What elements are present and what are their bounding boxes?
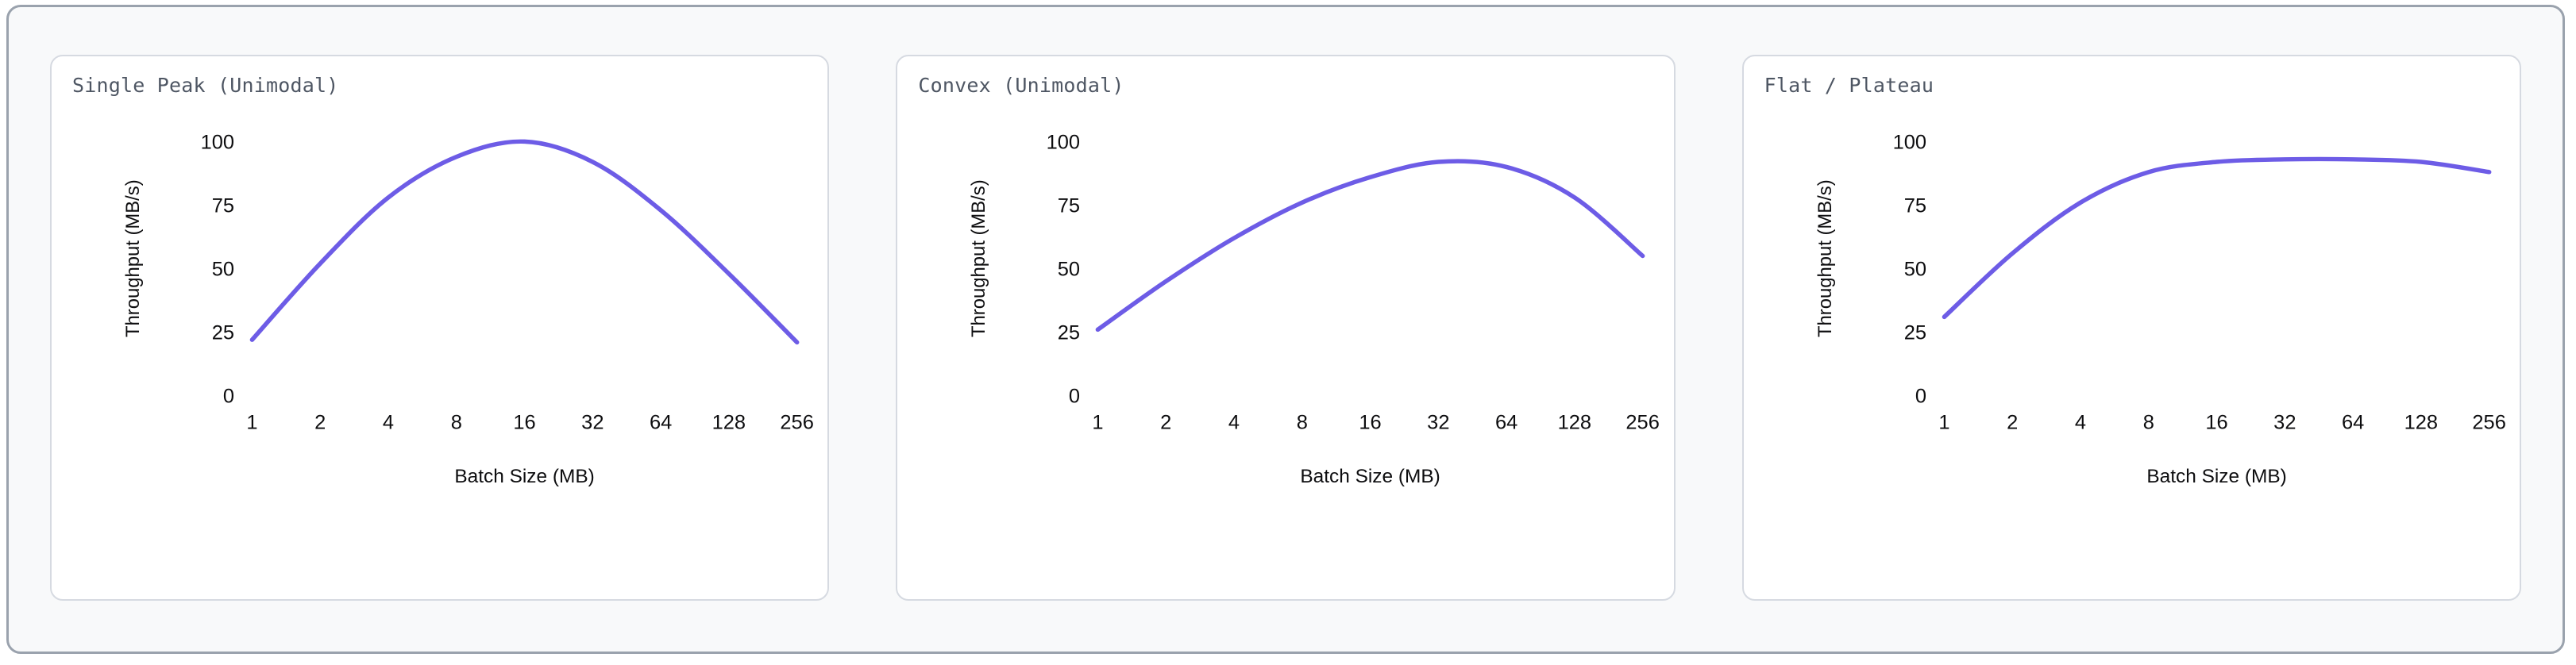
y-tick-label: 25 <box>1058 322 1080 344</box>
x-tick-label: 1 <box>1093 412 1104 434</box>
x-tick-label: 64 <box>2342 412 2364 434</box>
x-tick-label: 4 <box>2075 412 2086 434</box>
chart-panel-row: Single Peak (Unimodal) 0255075100Through… <box>9 7 2563 652</box>
line-chart-svg: 0255075100Throughput (MB/s)1248163264128… <box>52 94 827 599</box>
x-tick-label: 8 <box>2142 412 2154 434</box>
chart-title: Flat / Plateau <box>1764 74 1934 97</box>
x-tick-label: 2 <box>2007 412 2018 434</box>
y-tick-label: 50 <box>212 259 234 281</box>
x-tick-label: 256 <box>2472 412 2505 434</box>
x-axis-title: Batch Size (MB) <box>2146 466 2286 487</box>
line-chart-svg: 0255075100Throughput (MB/s)1248163264128… <box>897 94 1673 599</box>
plot-area: 0255075100Throughput (MB/s)1248163264128… <box>897 94 1673 599</box>
x-tick-label: 1 <box>246 412 257 434</box>
y-tick-label: 50 <box>1058 259 1080 281</box>
series-line-throughput <box>1944 159 2489 317</box>
chart-card-flat-plateau[interactable]: Flat / Plateau 0255075100Throughput (MB/… <box>1742 55 2521 601</box>
y-tick-label: 100 <box>1047 132 1080 154</box>
x-tick-label: 128 <box>2404 412 2437 434</box>
x-tick-label: 128 <box>1558 412 1591 434</box>
chart-title: Single Peak (Unimodal) <box>72 74 339 97</box>
y-tick-label: 100 <box>201 132 234 154</box>
y-tick-label: 25 <box>1903 322 1926 344</box>
line-chart-svg: 0255075100Throughput (MB/s)1248163264128… <box>1744 94 2520 599</box>
y-tick-label: 75 <box>212 195 234 217</box>
x-tick-label: 256 <box>780 412 813 434</box>
x-tick-label: 256 <box>1626 412 1660 434</box>
y-tick-label: 25 <box>212 322 234 344</box>
y-axis-title: Throughput (MB/s) <box>122 179 144 337</box>
x-axis-title: Batch Size (MB) <box>454 466 594 487</box>
plot-area: 0255075100Throughput (MB/s)1248163264128… <box>52 94 827 599</box>
y-tick-label: 0 <box>223 386 234 408</box>
x-tick-label: 32 <box>2273 412 2296 434</box>
y-axis-title: Throughput (MB/s) <box>968 179 989 337</box>
x-tick-label: 64 <box>1495 412 1517 434</box>
y-axis-title: Throughput (MB/s) <box>1814 179 1835 337</box>
x-tick-label: 32 <box>581 412 604 434</box>
y-tick-label: 100 <box>1892 132 1926 154</box>
chart-card-single-peak[interactable]: Single Peak (Unimodal) 0255075100Through… <box>50 55 829 601</box>
y-tick-label: 75 <box>1058 195 1080 217</box>
y-tick-label: 50 <box>1903 259 1926 281</box>
x-tick-label: 16 <box>513 412 535 434</box>
x-tick-label: 128 <box>712 412 746 434</box>
y-tick-label: 0 <box>1069 386 1080 408</box>
y-tick-label: 75 <box>1903 195 1926 217</box>
x-tick-label: 8 <box>1297 412 1308 434</box>
x-tick-label: 8 <box>451 412 462 434</box>
x-tick-label: 2 <box>1160 412 1171 434</box>
x-tick-label: 64 <box>650 412 672 434</box>
chart-title: Convex (Unimodal) <box>918 74 1124 97</box>
x-tick-label: 1 <box>1938 412 1949 434</box>
series-line-throughput <box>252 141 796 342</box>
x-tick-label: 16 <box>2205 412 2227 434</box>
series-line-throughput <box>1098 161 1643 329</box>
x-tick-label: 2 <box>314 412 326 434</box>
x-tick-label: 4 <box>383 412 394 434</box>
x-axis-title: Batch Size (MB) <box>1301 466 1440 487</box>
y-tick-label: 0 <box>1915 386 1926 408</box>
x-tick-label: 4 <box>1228 412 1240 434</box>
charts-frame: Single Peak (Unimodal) 0255075100Through… <box>6 5 2565 654</box>
x-tick-label: 16 <box>1359 412 1382 434</box>
chart-card-convex[interactable]: Convex (Unimodal) 0255075100Throughput (… <box>896 55 1675 601</box>
plot-area: 0255075100Throughput (MB/s)1248163264128… <box>1744 94 2520 599</box>
x-tick-label: 32 <box>1428 412 1450 434</box>
